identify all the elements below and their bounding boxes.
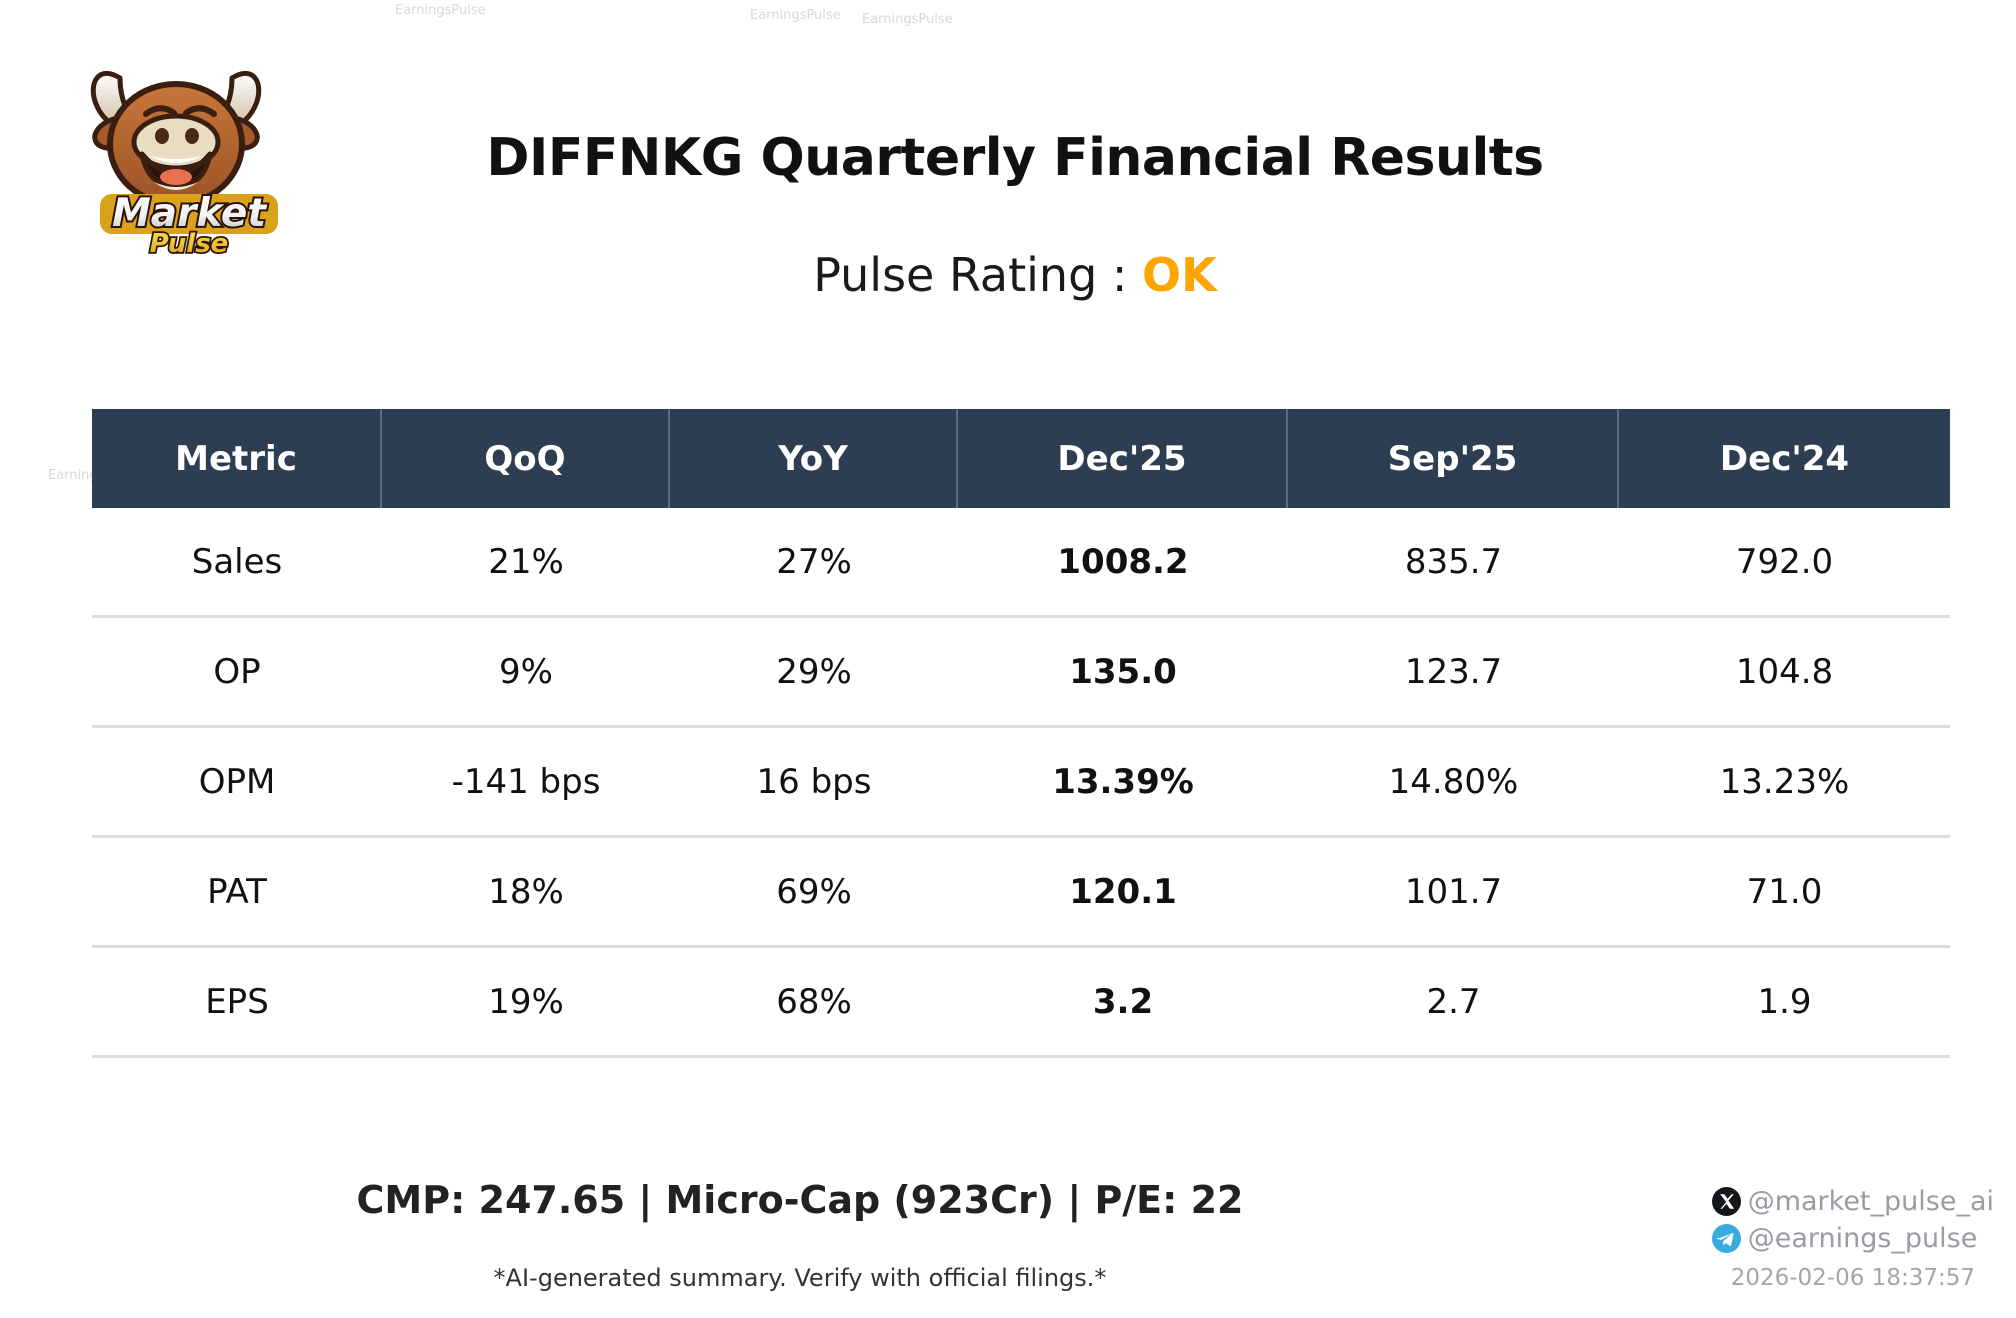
cell-current: 135.0 xyxy=(958,618,1288,725)
cell-year-ago: 13.23% xyxy=(1619,728,1950,835)
market-pulse-bull-logo: Market Pulse xyxy=(58,32,294,264)
pulse-rating-label: Pulse Rating : xyxy=(813,248,1127,302)
cell-year-ago: 104.8 xyxy=(1619,618,1950,725)
cell-metric: EPS xyxy=(92,948,382,1055)
cell-qoq: -141 bps xyxy=(382,728,670,835)
pulse-rating: Pulse Rating : OK xyxy=(300,248,1730,302)
cell-year-ago: 792.0 xyxy=(1619,508,1950,615)
watermark: EarningsPulse xyxy=(862,12,953,27)
cell-metric: Sales xyxy=(92,508,382,615)
table-row: Sales21%27%1008.2835.7792.0 xyxy=(92,508,1950,618)
table-header-metric: Metric xyxy=(92,409,382,508)
disclaimer-text: *AI-generated summary. Verify with offic… xyxy=(0,1264,1600,1292)
cell-yoy: 16 bps xyxy=(670,728,958,835)
table-row: EPS19%68%3.22.71.9 xyxy=(92,948,1950,1058)
x-handle: @market_pulse_ai xyxy=(1748,1186,1994,1217)
table-header-dec-25: Dec'25 xyxy=(958,409,1288,508)
cell-previous: 835.7 xyxy=(1288,508,1619,615)
cell-metric: OPM xyxy=(92,728,382,835)
watermark: EarningsPulse xyxy=(750,8,841,23)
cell-metric: OP xyxy=(92,618,382,725)
table-header-row: MetricQoQYoYDec'25Sep'25Dec'24 xyxy=(92,409,1950,508)
cell-metric: PAT xyxy=(92,838,382,945)
cell-yoy: 68% xyxy=(670,948,958,1055)
cell-qoq: 18% xyxy=(382,838,670,945)
table-body: Sales21%27%1008.2835.7792.0OP9%29%135.01… xyxy=(92,508,1950,1058)
table-header-yoy: YoY xyxy=(670,409,958,508)
telegram-icon xyxy=(1712,1224,1741,1253)
financial-results-table: MetricQoQYoYDec'25Sep'25Dec'24 Sales21%2… xyxy=(92,409,1950,1058)
svg-text:Pulse: Pulse xyxy=(150,229,229,259)
table-row: PAT18%69%120.1101.771.0 xyxy=(92,838,1950,948)
table-row: OP9%29%135.0123.7104.8 xyxy=(92,618,1950,728)
page-title: DIFFNKG Quarterly Financial Results xyxy=(300,128,1730,188)
x-twitter-icon xyxy=(1712,1187,1741,1216)
table-header-qoq: QoQ xyxy=(382,409,670,508)
cell-yoy: 27% xyxy=(670,508,958,615)
results-card: EarningsPulseEarningsPulseEarningsPulseE… xyxy=(0,0,2016,1318)
cell-yoy: 69% xyxy=(670,838,958,945)
watermark: EarningsPulse xyxy=(395,3,486,18)
pulse-rating-value: OK xyxy=(1142,248,1217,302)
table-header-sep-25: Sep'25 xyxy=(1288,409,1619,508)
cell-previous: 101.7 xyxy=(1288,838,1619,945)
cell-qoq: 19% xyxy=(382,948,670,1055)
cell-previous: 2.7 xyxy=(1288,948,1619,1055)
social-row-x[interactable]: @market_pulse_ai xyxy=(1712,1183,1994,1220)
social-row-telegram[interactable]: @earnings_pulse xyxy=(1712,1220,1994,1257)
cell-previous: 14.80% xyxy=(1288,728,1619,835)
social-handles: @market_pulse_ai @earnings_pulse 2026-02… xyxy=(1712,1183,1994,1291)
cell-year-ago: 1.9 xyxy=(1619,948,1950,1055)
cell-current: 120.1 xyxy=(958,838,1288,945)
cell-current: 3.2 xyxy=(958,948,1288,1055)
table-header-dec-24: Dec'24 xyxy=(1619,409,1950,508)
cell-year-ago: 71.0 xyxy=(1619,838,1950,945)
timestamp: 2026-02-06 18:37:57 xyxy=(1712,1265,1994,1291)
cell-qoq: 21% xyxy=(382,508,670,615)
telegram-handle: @earnings_pulse xyxy=(1748,1223,1978,1254)
cell-qoq: 9% xyxy=(382,618,670,725)
cell-previous: 123.7 xyxy=(1288,618,1619,725)
cell-current: 1008.2 xyxy=(958,508,1288,615)
cell-current: 13.39% xyxy=(958,728,1288,835)
cmp-summary: CMP: 247.65 | Micro-Cap (923Cr) | P/E: 2… xyxy=(0,1178,1600,1222)
cell-yoy: 29% xyxy=(670,618,958,725)
table-row: OPM-141 bps16 bps13.39%14.80%13.23% xyxy=(92,728,1950,838)
